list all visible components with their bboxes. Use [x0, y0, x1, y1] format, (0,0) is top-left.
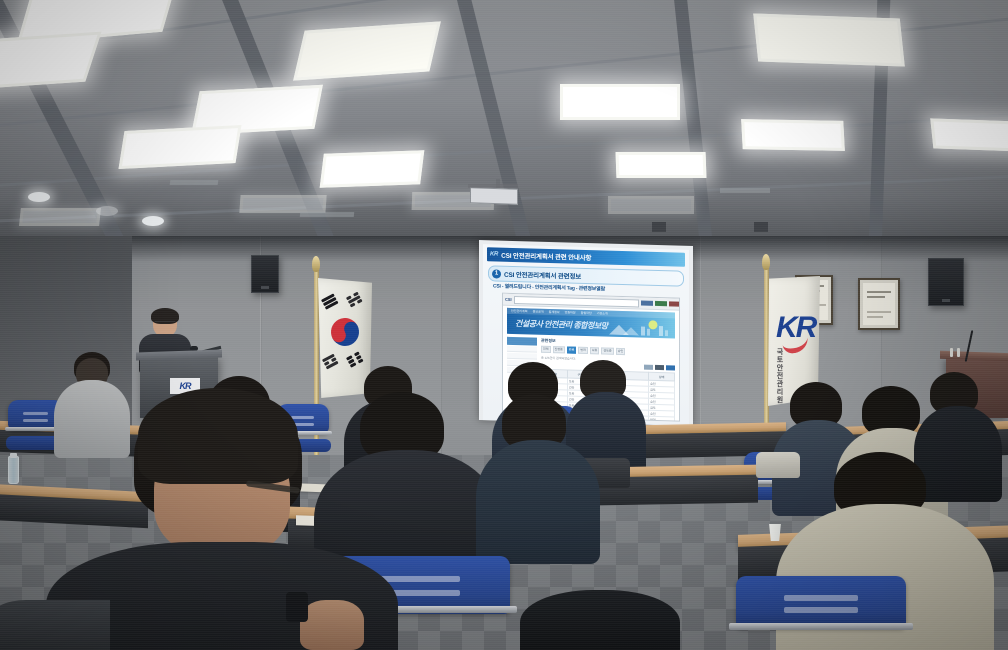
bottle-cap: [10, 453, 17, 458]
nav-item: 통계정보: [549, 310, 560, 314]
print-button: [655, 365, 664, 370]
search-button: [666, 365, 675, 370]
ceiling-light-panel: [560, 84, 680, 120]
ceiling-bracket: [652, 222, 666, 232]
desk-microphone-2: [957, 348, 960, 357]
attendee-shoulders: [520, 590, 680, 650]
ceiling-light-panel: [293, 21, 441, 80]
browser-button-reset: [669, 301, 680, 306]
ceiling-light-panel-off: [608, 196, 694, 214]
filter-tab: 진행중: [553, 346, 565, 353]
excel-button: [644, 365, 653, 370]
ceiling-light-panel: [320, 150, 425, 187]
ceiling-vent: [170, 180, 219, 185]
water-bottle: [8, 456, 19, 484]
filter-tab: 전체: [541, 346, 551, 353]
side-menu-title: [507, 337, 537, 346]
filter-tab: 승인: [616, 348, 626, 355]
chair-backrest: [736, 576, 906, 628]
attendee-watch: [286, 592, 308, 622]
lectern-top: [136, 349, 222, 360]
site-banner: 안전관리계획 정보공개 통계정보 민원마당 알림마당 기관소개 건설공사 안전관…: [507, 308, 675, 339]
table-cell: 반려: [649, 416, 675, 421]
ceiling: [0, 0, 1008, 250]
projector-mount: [468, 184, 518, 188]
ceiling-light-panel: [0, 32, 102, 91]
filter-tab: 보류: [590, 347, 600, 354]
nav-item: 알림마당: [581, 311, 592, 315]
attendee-hand: [300, 600, 364, 650]
desk-microphone-1: [950, 348, 953, 357]
ceiling-bracket: [754, 222, 768, 232]
ceiling-vent: [720, 188, 770, 193]
attendee-bottom-right: [520, 590, 680, 650]
nav-item: 안전관리계획: [511, 309, 528, 313]
attendee-mid-2: [482, 394, 592, 544]
section-number-badge: 1: [492, 269, 501, 278]
nav-item: 정보공개: [533, 310, 544, 314]
recessed-downlight: [142, 216, 164, 226]
browser-button-confirm: [655, 301, 667, 306]
filter-tab: 검토중: [601, 347, 613, 354]
flagpole-finial-right: [762, 254, 770, 270]
ceiling-light-panel: [741, 119, 845, 151]
recessed-downlight: [28, 192, 50, 202]
seminar-room-photo: KR CSI 안전관리계획서 관련 안내사항 1 CSI 안전관리계획서 관련정…: [0, 0, 1008, 650]
browser-button-search: [641, 301, 653, 306]
browser-url-field: [514, 295, 639, 307]
ceiling-light-panel: [119, 125, 242, 169]
filter-tab: 반려: [578, 347, 588, 354]
attendee-bottom-left: [0, 600, 110, 650]
ceiling-light-panel: [930, 118, 1008, 151]
attendee-shoulders: [476, 440, 600, 564]
attendee-hair-top: [138, 388, 298, 484]
slide-title-bar: KR CSI 안전관리계획서 관련 안내사항: [487, 247, 685, 267]
nav-item: 민원마당: [565, 310, 576, 314]
ceiling-projector: [470, 187, 518, 205]
ceiling-light-panel-off: [19, 208, 101, 226]
recessed-downlight: [96, 206, 118, 216]
ceiling-light-panel: [753, 13, 905, 66]
ceiling-light-panel-off: [239, 195, 326, 213]
wall-speaker-right: [928, 258, 964, 306]
side-menu-item: [507, 346, 537, 353]
side-menu-item: [507, 353, 537, 360]
slide-logo: KR: [490, 251, 498, 257]
presenter-glasses: [155, 321, 175, 326]
framed-certificate-2: [858, 278, 900, 330]
slide-title-text: CSI 안전관리계획서 관련 안내사항: [501, 250, 591, 263]
wall-speaker-left: [251, 255, 279, 293]
site-wordmark: 건설공사 안전관리 종합정보망: [515, 318, 608, 332]
filter-tab-active: 완료: [567, 346, 577, 353]
ceiling-vent: [300, 212, 354, 217]
chair: [736, 576, 906, 650]
ceiling-light-panel: [616, 152, 707, 178]
banner-illustration: [609, 319, 671, 337]
nav-item: 기관소개: [597, 311, 608, 315]
browser-logo: CSI: [505, 297, 512, 302]
filter-tabs: 전체 진행중 완료 반려 보류 검토중 승인: [541, 346, 675, 357]
section-title-text: CSI 안전관리계획서 관련정보: [504, 269, 581, 281]
flagpole-finial-left: [312, 256, 320, 272]
